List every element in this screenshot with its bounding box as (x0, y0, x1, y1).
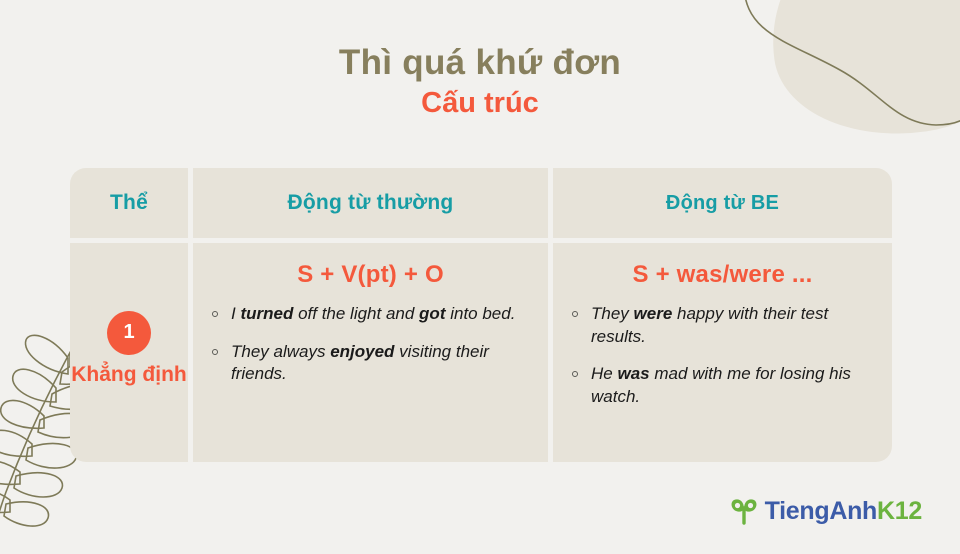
example-list-ordinary-verb: I turned off the light and got into bed.… (209, 303, 532, 386)
example-list-be-verb: They were happy with their test results.… (569, 303, 876, 408)
row-number-badge: 1 (107, 311, 151, 355)
table-header-row: Thể Động từ thường Động từ BE (70, 168, 892, 238)
table-row: 1 Khẳng định S + V(pt) + O I turned off … (70, 243, 892, 462)
header-cell-ordinary-verb: Động từ thường (193, 168, 548, 238)
header-label-ordinary-verb: Động từ thường (288, 191, 454, 215)
formula-be-verb: S + was/were ... (569, 261, 876, 289)
brand-logo: TiengAnh K12 (729, 496, 922, 526)
header-cell-aspect: Thể (70, 168, 188, 238)
header-cell-be-verb: Động từ BE (553, 168, 892, 238)
be-verb-cell: S + was/were ... They were happy with th… (553, 243, 892, 462)
slide-title-block: Thì quá khứ đơn Cấu trúc (0, 42, 960, 123)
list-item: I turned off the light and got into bed. (209, 303, 532, 326)
page-title: Thì quá khứ đơn (0, 42, 960, 83)
page-subtitle: Cấu trúc (0, 85, 960, 123)
list-item: They were happy with their test results. (569, 303, 876, 348)
logo-name-primary: TiengAnh (765, 497, 877, 526)
aspect-cell: 1 Khẳng định (70, 243, 188, 462)
plant-logo-icon (729, 496, 759, 526)
aspect-label: Khẳng định (71, 362, 186, 389)
header-label-aspect: Thể (110, 191, 148, 215)
formula-ordinary-verb: S + V(pt) + O (209, 261, 532, 289)
structure-table: Thể Động từ thường Động từ BE 1 Khẳng đị… (70, 168, 892, 462)
header-label-be-verb: Động từ BE (666, 192, 779, 215)
list-item: He was mad with me for losing his watch. (569, 363, 876, 408)
list-item: They always enjoyed visiting their frien… (209, 341, 532, 386)
logo-name-suffix: K12 (877, 497, 922, 526)
ordinary-verb-cell: S + V(pt) + O I turned off the light and… (193, 243, 548, 462)
